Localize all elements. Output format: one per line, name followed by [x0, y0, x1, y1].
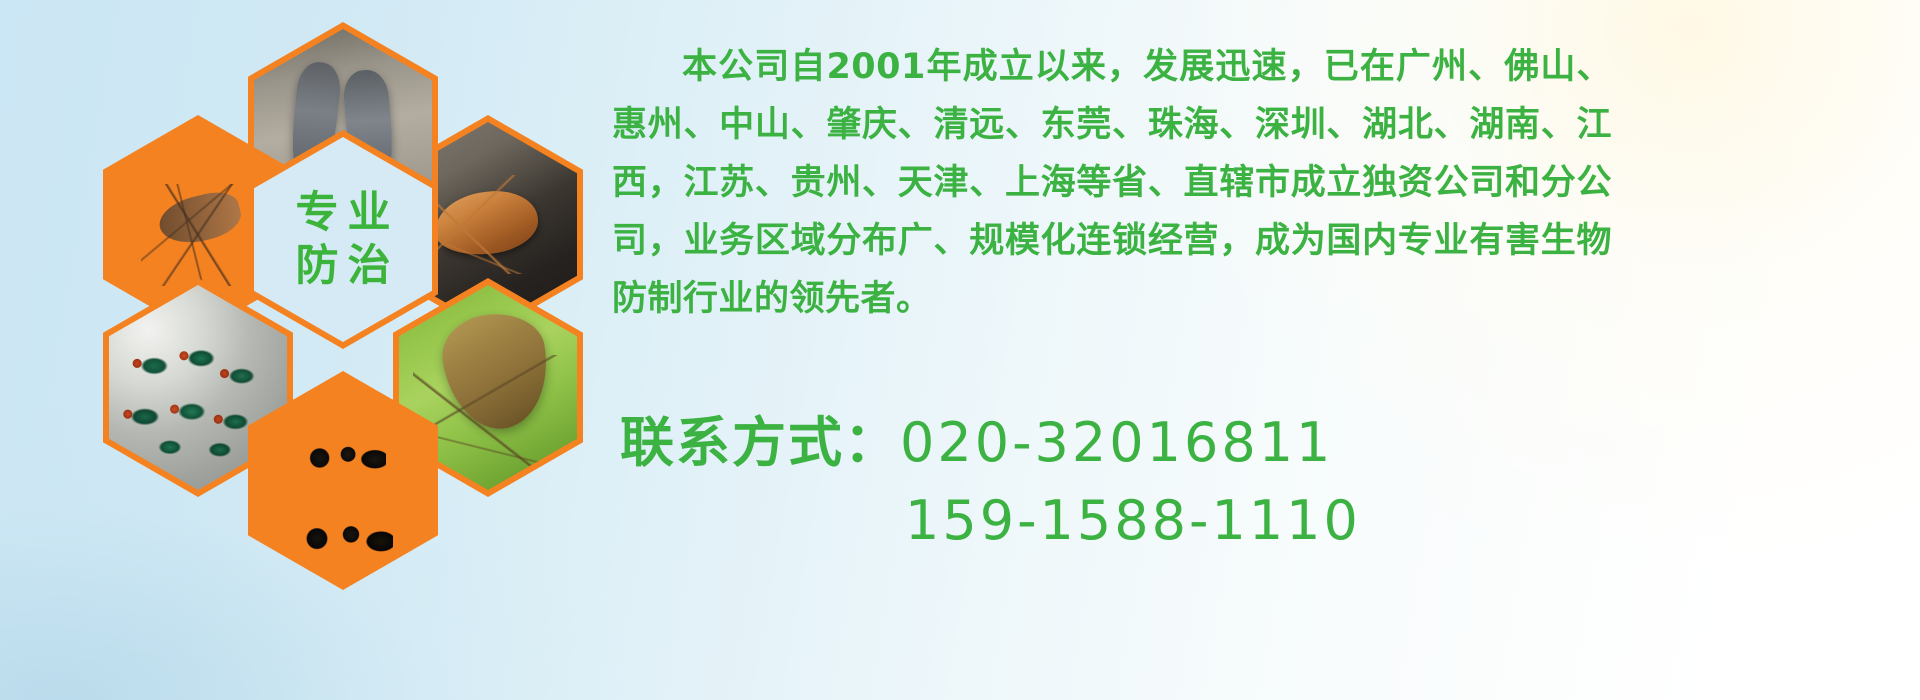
- hex-inner-slogan: 专业 防治: [254, 137, 432, 342]
- contact-secondary-row: 159-1588-1110: [620, 482, 1820, 560]
- intro-copy-block: 本公司自2001年成立以来，发展迅速，已在广州、佛山、惠州、中山、肇庆、清远、东…: [612, 38, 1852, 328]
- contact-primary-row: 联系方式：020-32016811: [620, 404, 1820, 482]
- ant-photo: [254, 378, 432, 583]
- company-intro-paragraph: 本公司自2001年成立以来，发展迅速，已在广州、佛山、惠州、中山、肇庆、清远、东…: [612, 38, 1612, 328]
- slogan-text: 专业 防治: [254, 137, 432, 342]
- slogan-line-2: 防治: [287, 245, 400, 288]
- phone-primary[interactable]: 020-32016811: [900, 411, 1333, 474]
- slogan-line-1: 专业: [287, 192, 400, 235]
- honeycomb-collage: 专业 防治: [0, 0, 620, 700]
- phone-secondary[interactable]: 159-1588-1110: [905, 489, 1361, 552]
- contact-label: 联系方式：: [620, 411, 900, 474]
- hex-inner-ant: [254, 378, 432, 583]
- promo-banner: 专业 防治 本公司自2001年成立以来，发展迅速，已在广州、佛山、惠州、中山、肇…: [0, 0, 1920, 700]
- contact-block: 联系方式：020-32016811 159-1588-1110: [620, 404, 1820, 560]
